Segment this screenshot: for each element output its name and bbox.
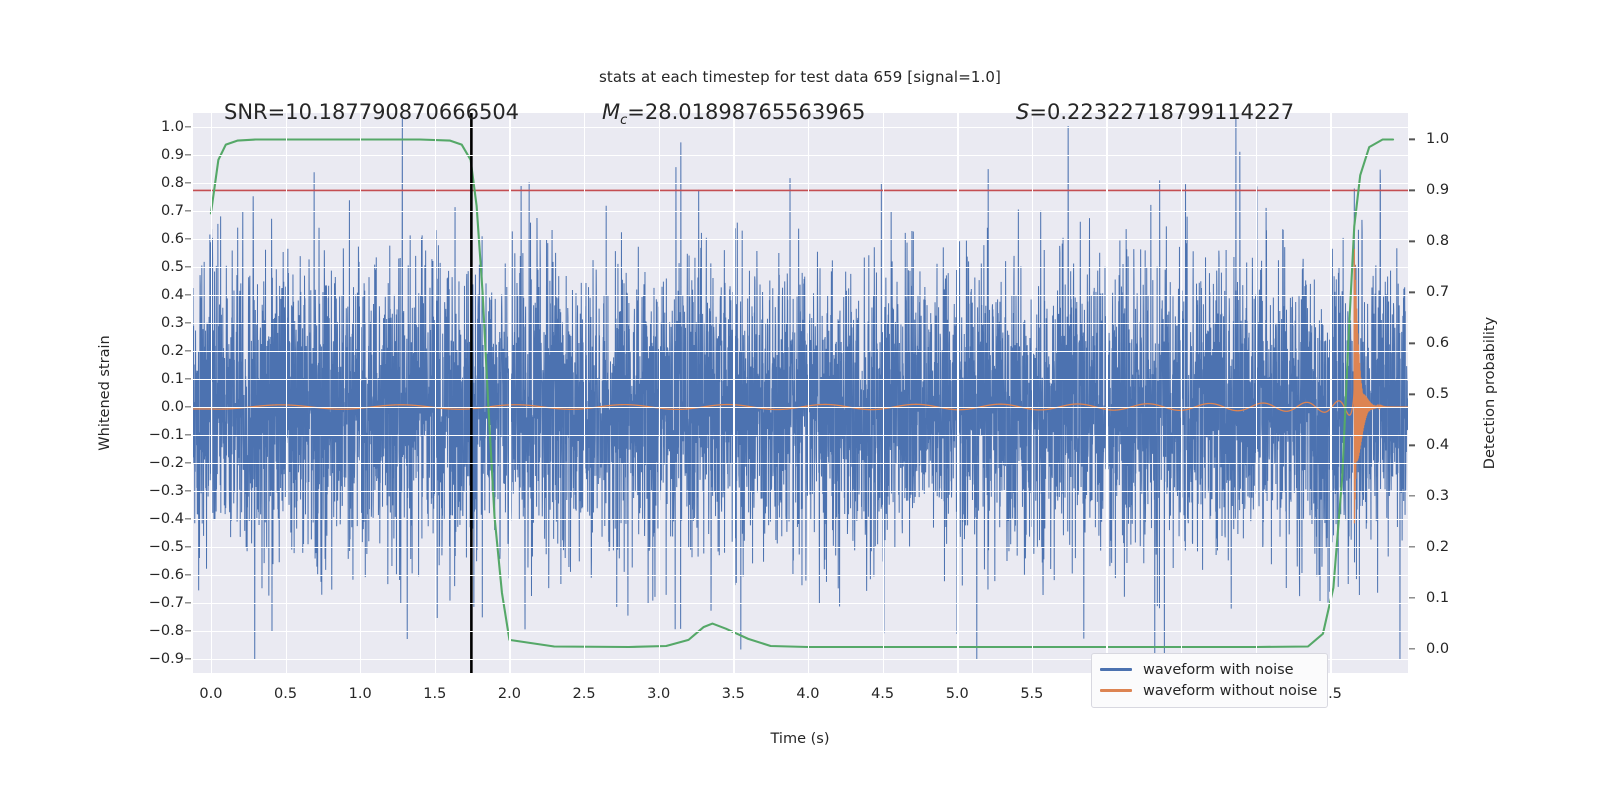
y-tick-mark-left — [185, 574, 191, 575]
y-tick-mark-left — [185, 322, 191, 323]
x-tick-label: 0.0 — [199, 686, 222, 702]
grid-line-horizontal — [193, 239, 1408, 240]
grid-line-horizontal — [193, 603, 1408, 604]
grid-line-vertical — [808, 113, 809, 673]
grid-line-vertical — [584, 113, 585, 673]
grid-line-horizontal — [193, 435, 1408, 436]
grid-line-vertical — [1106, 113, 1107, 673]
y-tick-mark-left — [185, 154, 191, 155]
y-tick-mark-right — [1409, 648, 1415, 649]
annotation-chirp-mass-subscript: c — [620, 113, 627, 128]
x-tick-label: 3.5 — [722, 686, 745, 702]
y-tick-label-left: 0.0 — [124, 399, 184, 415]
y-tick-label-left: −0.7 — [124, 595, 184, 611]
y-tick-label-left: −0.6 — [124, 567, 184, 583]
y-tick-mark-right — [1409, 292, 1415, 293]
y-tick-label-left: −0.5 — [124, 539, 184, 555]
y-tick-label-left: 0.4 — [124, 287, 184, 303]
y-tick-label-left: 0.1 — [124, 371, 184, 387]
y-tick-label-right: 0.1 — [1426, 590, 1486, 606]
y-tick-label-left: −0.8 — [124, 623, 184, 639]
x-tick-label: 1.5 — [423, 686, 446, 702]
grid-line-vertical — [211, 113, 212, 673]
grid-line-horizontal — [193, 351, 1408, 352]
legend-swatch-icon — [1100, 689, 1132, 692]
x-tick-label: 1.0 — [349, 686, 372, 702]
grid-line-horizontal — [193, 407, 1408, 408]
y-tick-mark-right — [1409, 496, 1415, 497]
grid-line-vertical — [286, 113, 287, 673]
legend-label: waveform with noise — [1143, 662, 1294, 678]
series-waveform-with-noise — [193, 119, 1408, 659]
y-tick-label-left: −0.2 — [124, 455, 184, 471]
grid-line-horizontal — [193, 323, 1408, 324]
y-axis-label-left: Whitened strain — [97, 335, 113, 450]
y-tick-mark-right — [1409, 546, 1415, 547]
y-axis-label-right: Detection probability — [1482, 317, 1498, 469]
grid-line-vertical — [435, 113, 436, 673]
y-tick-mark-left — [185, 630, 191, 631]
y-tick-label-left: 0.2 — [124, 343, 184, 359]
grid-line-horizontal — [193, 463, 1408, 464]
grid-line-horizontal — [193, 491, 1408, 492]
grid-line-horizontal — [193, 267, 1408, 268]
y-tick-mark-right — [1409, 241, 1415, 242]
y-tick-label-right: 0.5 — [1426, 386, 1486, 402]
annotation-chirp-mass: Mc=28.01898765563965 — [602, 100, 865, 128]
y-tick-label-left: −0.3 — [124, 483, 184, 499]
y-tick-label-right: 0.2 — [1426, 539, 1486, 555]
y-tick-mark-left — [185, 406, 191, 407]
grid-line-vertical — [883, 113, 884, 673]
grid-line-horizontal — [193, 575, 1408, 576]
y-tick-mark-left — [185, 210, 191, 211]
figure-canvas: stats at each timestep for test data 659… — [0, 0, 1600, 800]
legend-label: waveform without noise — [1143, 683, 1317, 699]
legend-swatch-icon — [1100, 668, 1132, 671]
legend: waveform with noise waveform without noi… — [1091, 653, 1328, 708]
grid-line-horizontal — [193, 295, 1408, 296]
y-tick-label-left: −0.1 — [124, 427, 184, 443]
y-tick-mark-left — [185, 602, 191, 603]
y-tick-label-left: 0.6 — [124, 231, 184, 247]
y-tick-label-right: 0.4 — [1426, 437, 1486, 453]
y-tick-mark-right — [1409, 190, 1415, 191]
x-tick-label: 2.5 — [573, 686, 596, 702]
y-tick-mark-right — [1409, 445, 1415, 446]
annotation-significance-symbol: S — [1016, 100, 1029, 124]
y-tick-mark-left — [185, 238, 191, 239]
y-tick-label-left: −0.9 — [124, 651, 184, 667]
grid-line-horizontal — [193, 155, 1408, 156]
grid-line-horizontal — [193, 183, 1408, 184]
y-tick-mark-left — [185, 518, 191, 519]
y-tick-mark-left — [185, 126, 191, 127]
grid-line-horizontal — [193, 211, 1408, 212]
annotation-snr-text: SNR=10.187790870666504 — [224, 100, 519, 124]
y-tick-mark-left — [185, 378, 191, 379]
x-tick-label: 5.0 — [946, 686, 969, 702]
y-tick-mark-right — [1409, 139, 1415, 140]
y-tick-mark-left — [185, 462, 191, 463]
x-tick-label: 3.0 — [647, 686, 670, 702]
y-tick-label-left: 0.9 — [124, 147, 184, 163]
y-tick-mark-right — [1409, 343, 1415, 344]
y-tick-mark-left — [185, 434, 191, 435]
y-tick-label-right: 0.9 — [1426, 182, 1486, 198]
annotation-significance: S=0.22322718799114227 — [1016, 100, 1294, 124]
y-tick-label-left: 0.3 — [124, 315, 184, 331]
y-tick-label-left: −0.4 — [124, 511, 184, 527]
x-tick-label: 2.0 — [498, 686, 521, 702]
grid-line-horizontal — [193, 379, 1408, 380]
grid-line-vertical — [360, 113, 361, 673]
y-tick-label-right: 1.0 — [1426, 131, 1486, 147]
legend-item-waveform-with-noise: waveform with noise — [1100, 659, 1317, 680]
x-axis-label: Time (s) — [771, 731, 830, 747]
annotation-chirp-mass-symbol: M — [602, 100, 620, 124]
y-tick-label-left: 0.8 — [124, 175, 184, 191]
grid-line-vertical — [659, 113, 660, 673]
y-tick-mark-left — [185, 182, 191, 183]
y-tick-label-left: 1.0 — [124, 119, 184, 135]
x-tick-label: 4.5 — [871, 686, 894, 702]
y-tick-mark-left — [185, 294, 191, 295]
legend-item-waveform-without-noise: waveform without noise — [1100, 680, 1317, 701]
annotation-significance-value: 0.22322718799114227 — [1047, 100, 1294, 124]
y-tick-mark-right — [1409, 394, 1415, 395]
annotation-snr: SNR=10.187790870666504 — [224, 100, 519, 124]
grid-line-vertical — [509, 113, 510, 673]
y-tick-mark-left — [185, 350, 191, 351]
x-tick-label: 0.5 — [274, 686, 297, 702]
y-tick-mark-right — [1409, 597, 1415, 598]
grid-line-horizontal — [193, 547, 1408, 548]
y-tick-mark-left — [185, 546, 191, 547]
grid-line-vertical — [1032, 113, 1033, 673]
y-tick-label-right: 0.3 — [1426, 488, 1486, 504]
y-tick-label-right: 0.0 — [1426, 641, 1486, 657]
grid-line-vertical — [733, 113, 734, 673]
y-tick-label-left: 0.7 — [124, 203, 184, 219]
x-tick-label: 4.0 — [796, 686, 819, 702]
y-tick-mark-left — [185, 658, 191, 659]
grid-line-vertical — [1256, 113, 1257, 673]
grid-line-vertical — [1181, 113, 1182, 673]
y-tick-mark-left — [185, 490, 191, 491]
x-tick-label: 5.5 — [1020, 686, 1043, 702]
y-tick-label-right: 0.7 — [1426, 284, 1486, 300]
y-tick-label-right: 0.6 — [1426, 335, 1486, 351]
grid-line-vertical — [1330, 113, 1331, 673]
chart-title: stats at each timestep for test data 659… — [0, 68, 1600, 86]
data-layer — [193, 113, 1408, 673]
grid-line-horizontal — [193, 631, 1408, 632]
plot-area — [193, 113, 1408, 673]
grid-line-horizontal — [193, 519, 1408, 520]
y-tick-mark-left — [185, 266, 191, 267]
grid-line-vertical — [957, 113, 958, 673]
annotation-chirp-mass-value: 28.01898765563965 — [645, 100, 865, 124]
y-tick-label-left: 0.5 — [124, 259, 184, 275]
y-tick-label-right: 0.8 — [1426, 233, 1486, 249]
